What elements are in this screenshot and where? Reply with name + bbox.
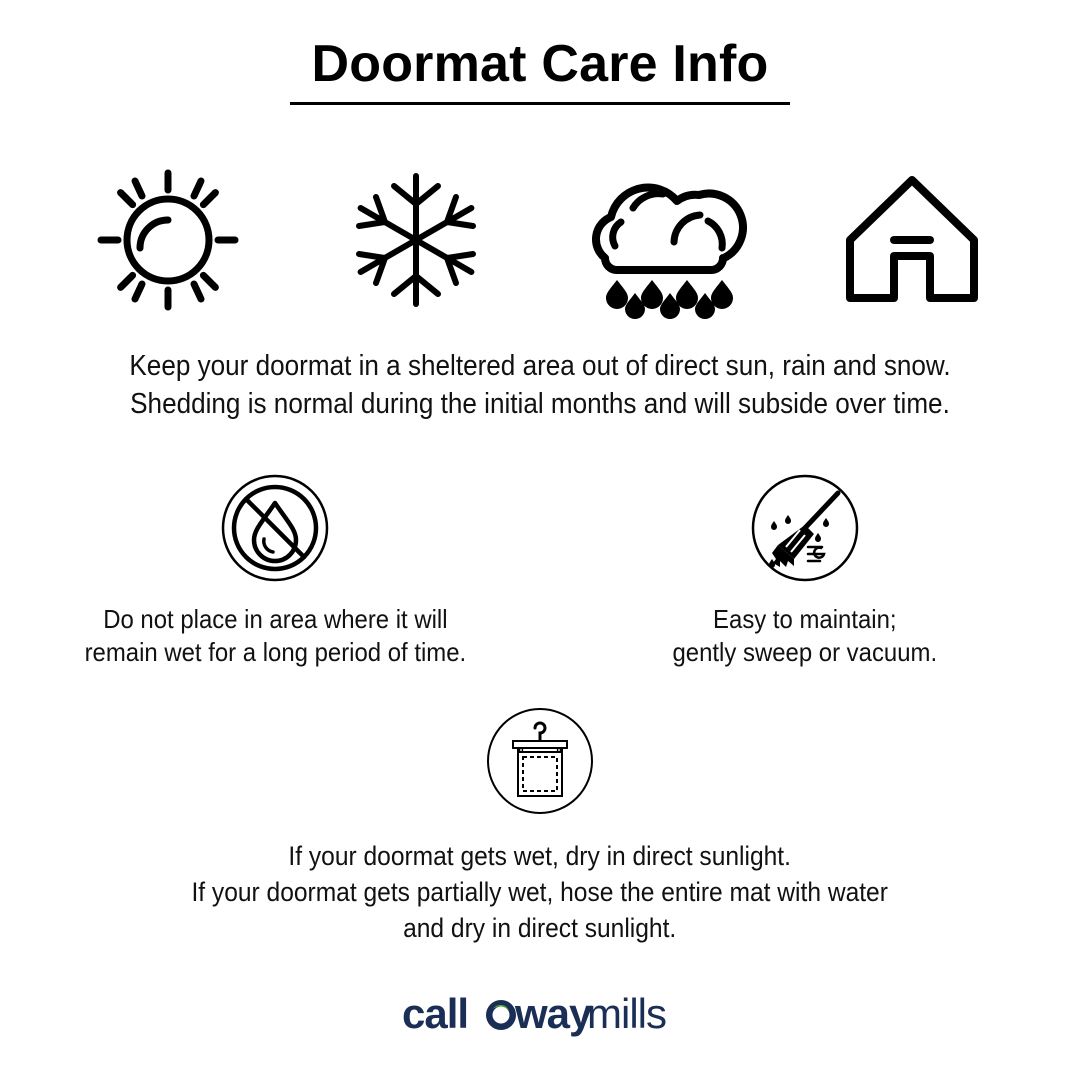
logo-mills-text: mills	[587, 992, 666, 1037]
weather-cell-house	[812, 150, 1012, 330]
logo-way-text: way	[514, 992, 593, 1037]
no-water-icon	[220, 473, 330, 583]
weather-icon-row	[0, 150, 1080, 330]
snowflake-icon	[336, 160, 496, 320]
care-item-no-water: Do not place in area where it will remai…	[60, 470, 490, 669]
brand-logo: call way mills	[0, 992, 1080, 1038]
drying-caption: If your doormat gets wet, dry in direct …	[192, 838, 888, 946]
logo-calloway-text: call	[402, 992, 468, 1037]
care-icon-wrap-sweep	[750, 470, 860, 585]
drying-instruction-block: If your doormat gets wet, dry in direct …	[0, 706, 1080, 946]
weather-cell-rain-cloud	[564, 150, 764, 330]
weather-cell-snowflake	[316, 150, 516, 330]
weather-cell-sun	[68, 150, 268, 330]
title-underline-rule	[290, 102, 790, 105]
broom-sweep-icon	[750, 473, 860, 583]
care-icon-wrap-no-water	[220, 470, 330, 585]
page-title: Doormat Care Info	[0, 34, 1080, 94]
house-shelter-icon	[832, 160, 992, 320]
rain-cloud-icon	[577, 160, 752, 320]
title-block: Doormat Care Info	[0, 34, 1080, 105]
sun-icon	[88, 160, 248, 320]
calloway-mills-logo-mark: call way mills	[402, 992, 678, 1038]
hanging-mat-icon	[485, 706, 595, 816]
care-caption-no-water: Do not place in area where it will remai…	[84, 603, 466, 669]
care-items-row: Do not place in area where it will remai…	[0, 470, 1080, 669]
care-caption-sweep: Easy to maintain; gently sweep or vacuum…	[673, 603, 938, 669]
intro-text: Keep your doormat in a sheltered area ou…	[54, 347, 1026, 423]
doormat-care-info-page: Doormat Care Info	[0, 0, 1080, 1080]
care-item-sweep: Easy to maintain; gently sweep or vacuum…	[590, 470, 1020, 669]
intro-paragraph: Keep your doormat in a sheltered area ou…	[0, 347, 1080, 423]
